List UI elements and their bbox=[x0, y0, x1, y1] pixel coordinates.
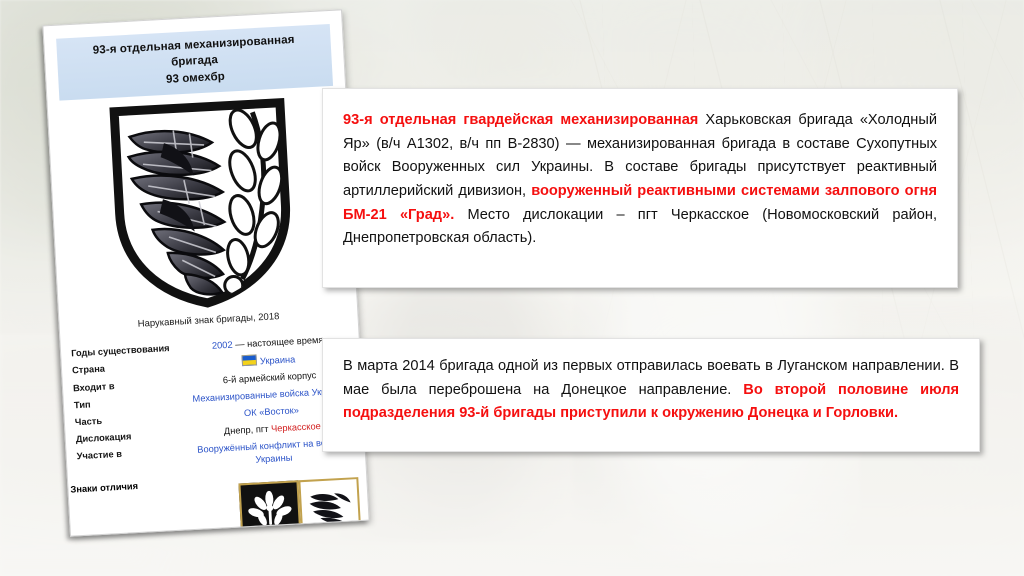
infobox-table: Годы существования 2002 — настоящее врем… bbox=[69, 330, 358, 478]
crest-caption: Нарукавный знак бригады, 2018 bbox=[59, 307, 357, 334]
description-panel-primary-text: 93-я отдельная гвардейская механизирован… bbox=[323, 89, 957, 263]
infobox-card-wrapper: 93-я отдельная механизированная бригада … bbox=[42, 9, 369, 536]
years-link[interactable]: 2002 bbox=[212, 340, 233, 351]
brigade-sleeve-badge-icon bbox=[100, 94, 305, 316]
country-link[interactable]: Украина bbox=[260, 354, 296, 366]
location-red-link[interactable]: Черкасское bbox=[271, 421, 321, 434]
description-panel-primary: 93-я отдельная гвардейская механизирован… bbox=[322, 88, 958, 288]
infobox-card: 93-я отдельная механизированная бригада … bbox=[42, 9, 369, 536]
location-text: Днепр, пгт bbox=[224, 424, 272, 437]
description-panel-secondary: В марта 2014 бригада одной из первых отп… bbox=[322, 338, 980, 452]
description-panel-secondary-text: В марта 2014 бригада одной из первых отп… bbox=[323, 339, 979, 436]
infobox-label-conflicts: Участие в bbox=[74, 443, 191, 478]
infobox-title: 93-я отдельная механизированная бригада … bbox=[56, 24, 333, 101]
panel1-red-lead: 93-я отдельная гвардейская механизирован… bbox=[343, 112, 698, 128]
infobox-label-awards: Знаки отличия bbox=[68, 478, 193, 495]
ukraine-flag-icon bbox=[242, 354, 258, 366]
years-rest: — настоящее время bbox=[232, 335, 323, 350]
